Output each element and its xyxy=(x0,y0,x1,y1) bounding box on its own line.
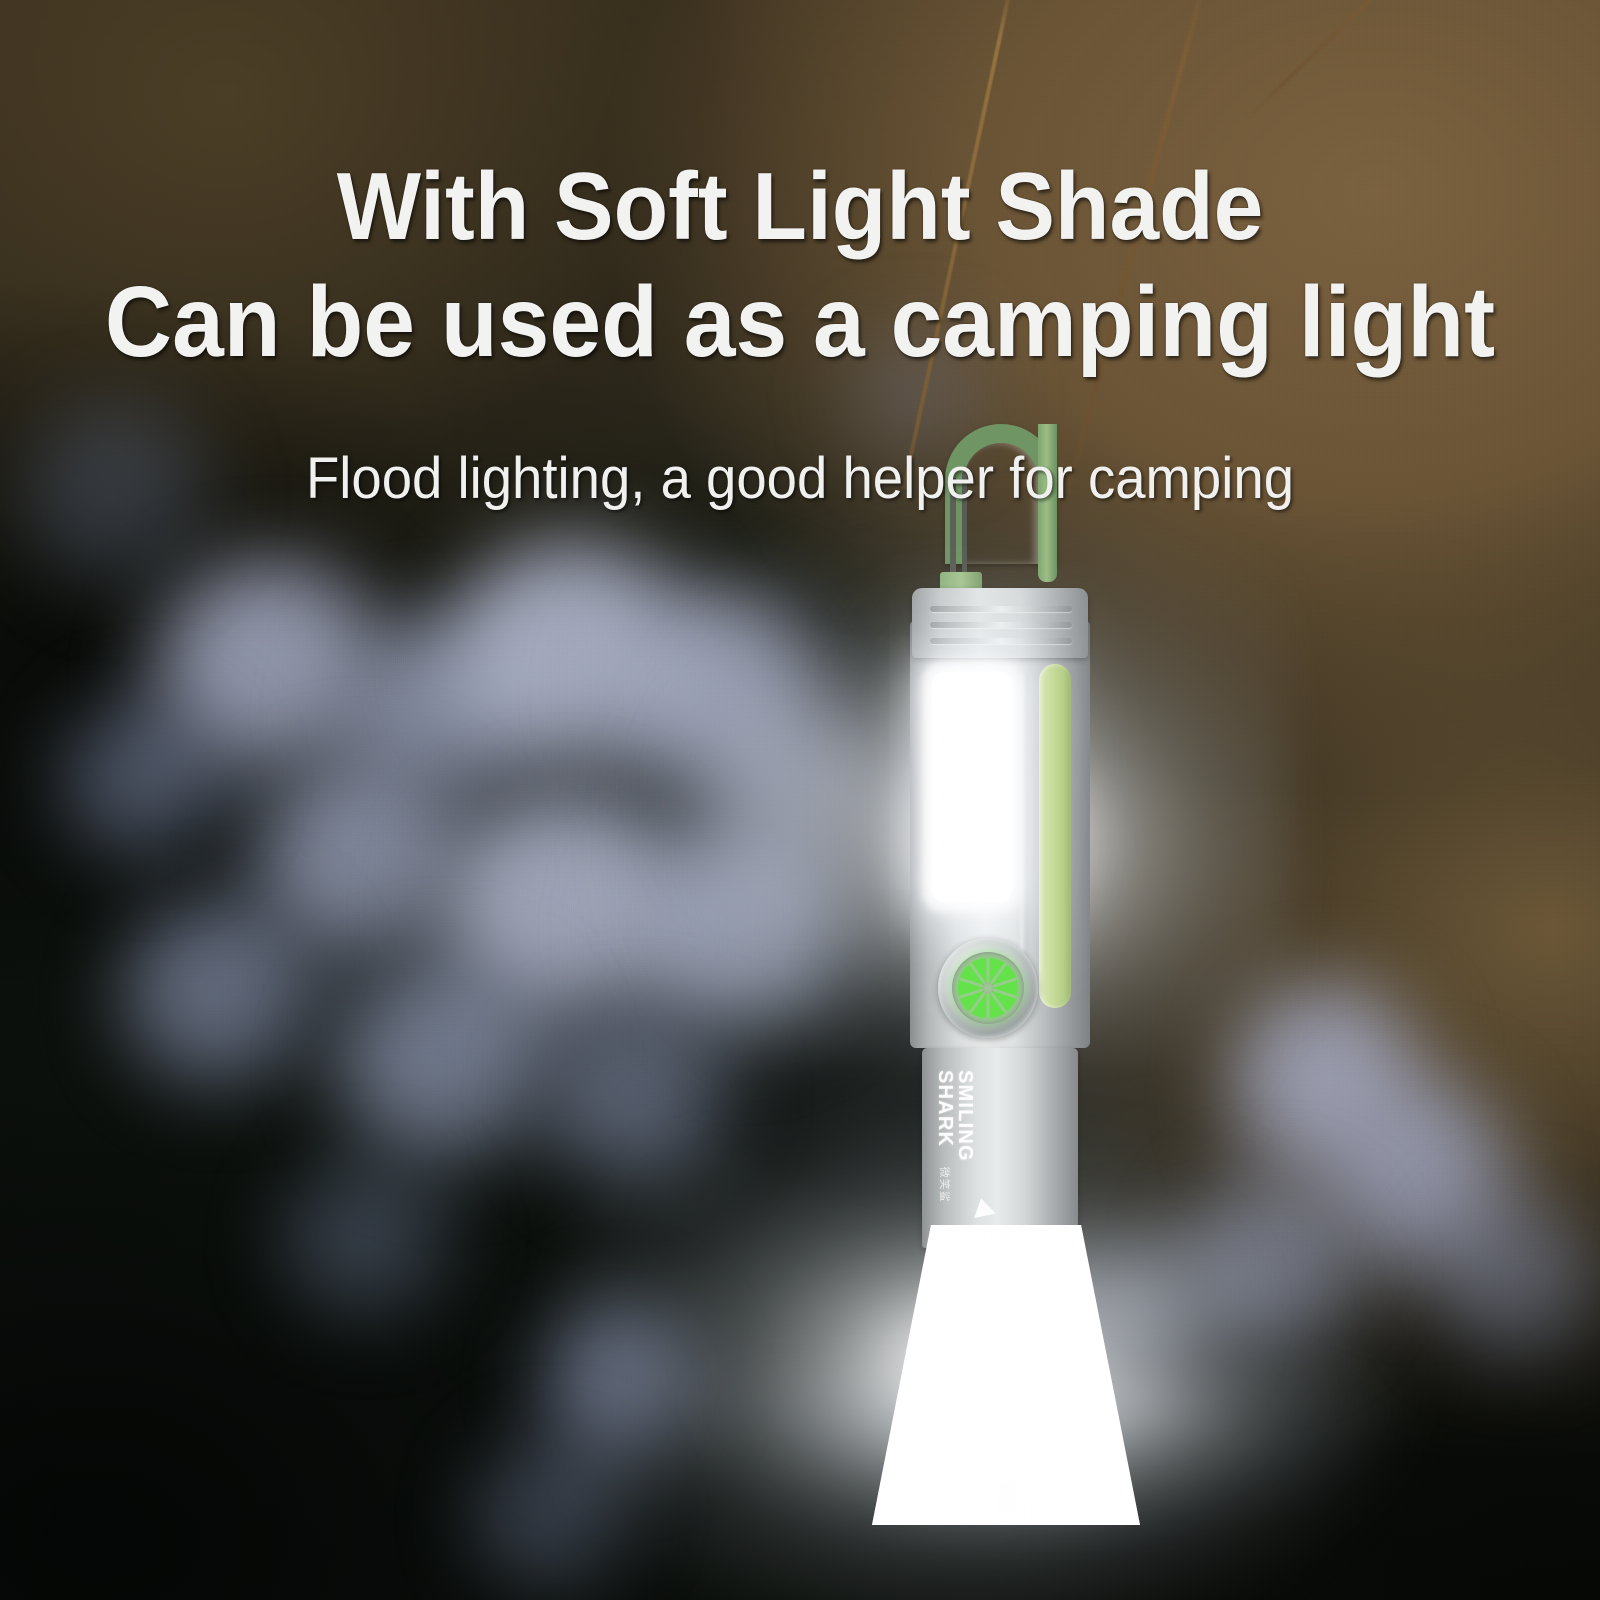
brand-chinese-text: 微笑鲨 xyxy=(937,1167,953,1203)
grip-ridge xyxy=(930,638,1072,644)
brand-line-2: SHARK xyxy=(935,1070,955,1162)
cob-side-light-panel xyxy=(932,672,1012,902)
shark-fin-logo-icon xyxy=(970,1196,995,1218)
brand-mark: SMILING SHARK 微笑鲨 xyxy=(935,1070,974,1203)
camping-flashlight: SMILING SHARK 微笑鲨 xyxy=(900,420,1110,1600)
power-button-led-icon xyxy=(958,958,1018,1018)
carabiner-gate-wire xyxy=(962,472,967,584)
carabiner-gate-wire xyxy=(950,478,972,586)
brand-name: SMILING SHARK xyxy=(935,1070,974,1162)
brand-line-1: SMILING xyxy=(954,1070,974,1162)
flashlight-head xyxy=(912,588,1088,658)
grip-ridge xyxy=(930,622,1072,628)
photo-grain xyxy=(0,0,1600,1600)
green-accent-strip xyxy=(1039,664,1071,1008)
carabiner-hook xyxy=(920,420,1060,595)
flashlight-lower-barrel: SMILING SHARK 微笑鲨 xyxy=(922,1048,1078,1248)
product-banner: SMILING SHARK 微笑鲨 With Soft Light Shade … xyxy=(0,0,1600,1600)
grip-ridge xyxy=(930,606,1072,612)
soft-light-shade-glow xyxy=(872,1225,1140,1525)
power-button[interactable] xyxy=(938,938,1038,1038)
